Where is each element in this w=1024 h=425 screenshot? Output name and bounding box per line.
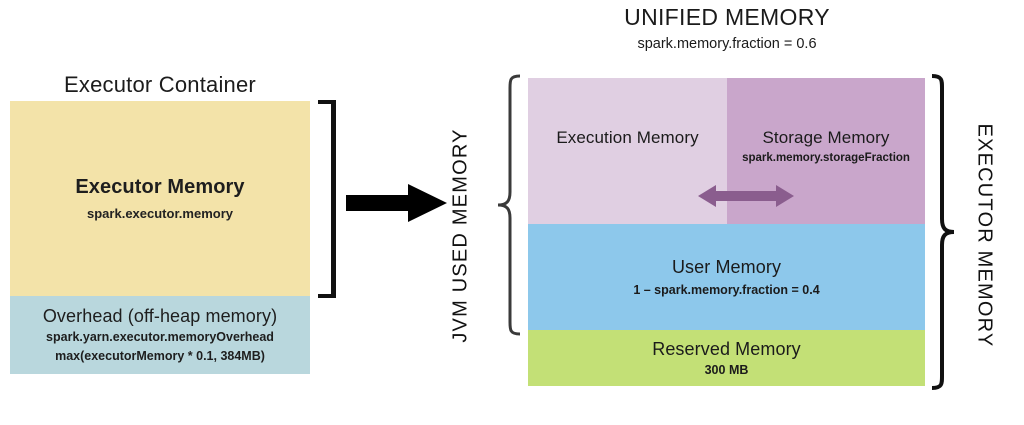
- overhead-formula: max(executorMemory * 0.1, 384MB): [55, 349, 265, 365]
- reserved-memory-cell: Reserved Memory 300 MB: [528, 330, 925, 386]
- storage-memory-label: Storage Memory: [762, 128, 889, 148]
- executor-memory-label: Executor Memory: [75, 176, 244, 199]
- user-memory-cell: User Memory 1 – spark.memory.fraction = …: [528, 224, 925, 330]
- executor-container-title: Executor Container: [10, 72, 310, 98]
- jvm-used-memory-brace-icon: [496, 74, 522, 336]
- diagram-canvas: Executor Container Executor Memory spark…: [0, 0, 1024, 425]
- executor-memory-vertical-label: EXECUTOR MEMORY: [962, 75, 1006, 395]
- jvm-used-memory-label: JVM USED MEMORY: [441, 75, 481, 395]
- executor-memory-property: spark.executor.memory: [87, 206, 233, 221]
- executor-memory-box: Executor Memory spark.executor.memory: [10, 101, 310, 296]
- executor-memory-brace-icon: [930, 74, 956, 390]
- user-memory-label: User Memory: [672, 257, 781, 278]
- storage-memory-property: spark.memory.storageFraction: [742, 152, 910, 164]
- unified-memory-row: Execution Memory Storage Memory spark.me…: [528, 78, 925, 224]
- overhead-label: Overhead (off-heap memory): [43, 306, 277, 327]
- execution-memory-label: Execution Memory: [556, 128, 698, 148]
- unified-memory-subtitle: spark.memory.fraction = 0.6: [528, 36, 926, 52]
- overhead-memory-box: Overhead (off-heap memory) spark.yarn.ex…: [10, 296, 310, 374]
- jvm-used-memory-text: JVM USED MEMORY: [450, 128, 473, 342]
- executor-memory-vertical-text: EXECUTOR MEMORY: [973, 123, 996, 347]
- memory-stack: Execution Memory Storage Memory spark.me…: [528, 78, 925, 386]
- execution-storage-balance-arrow-icon: [698, 182, 794, 210]
- reserved-memory-size: 300 MB: [705, 363, 749, 377]
- right-arrow-icon: [346, 182, 448, 224]
- overhead-property: spark.yarn.executor.memoryOverhead: [46, 330, 274, 346]
- reserved-memory-label: Reserved Memory: [652, 339, 801, 360]
- user-memory-property: 1 – spark.memory.fraction = 0.4: [633, 283, 819, 297]
- unified-memory-title: UNIFIED MEMORY: [528, 4, 926, 31]
- executor-memory-bracket-icon: [318, 100, 336, 298]
